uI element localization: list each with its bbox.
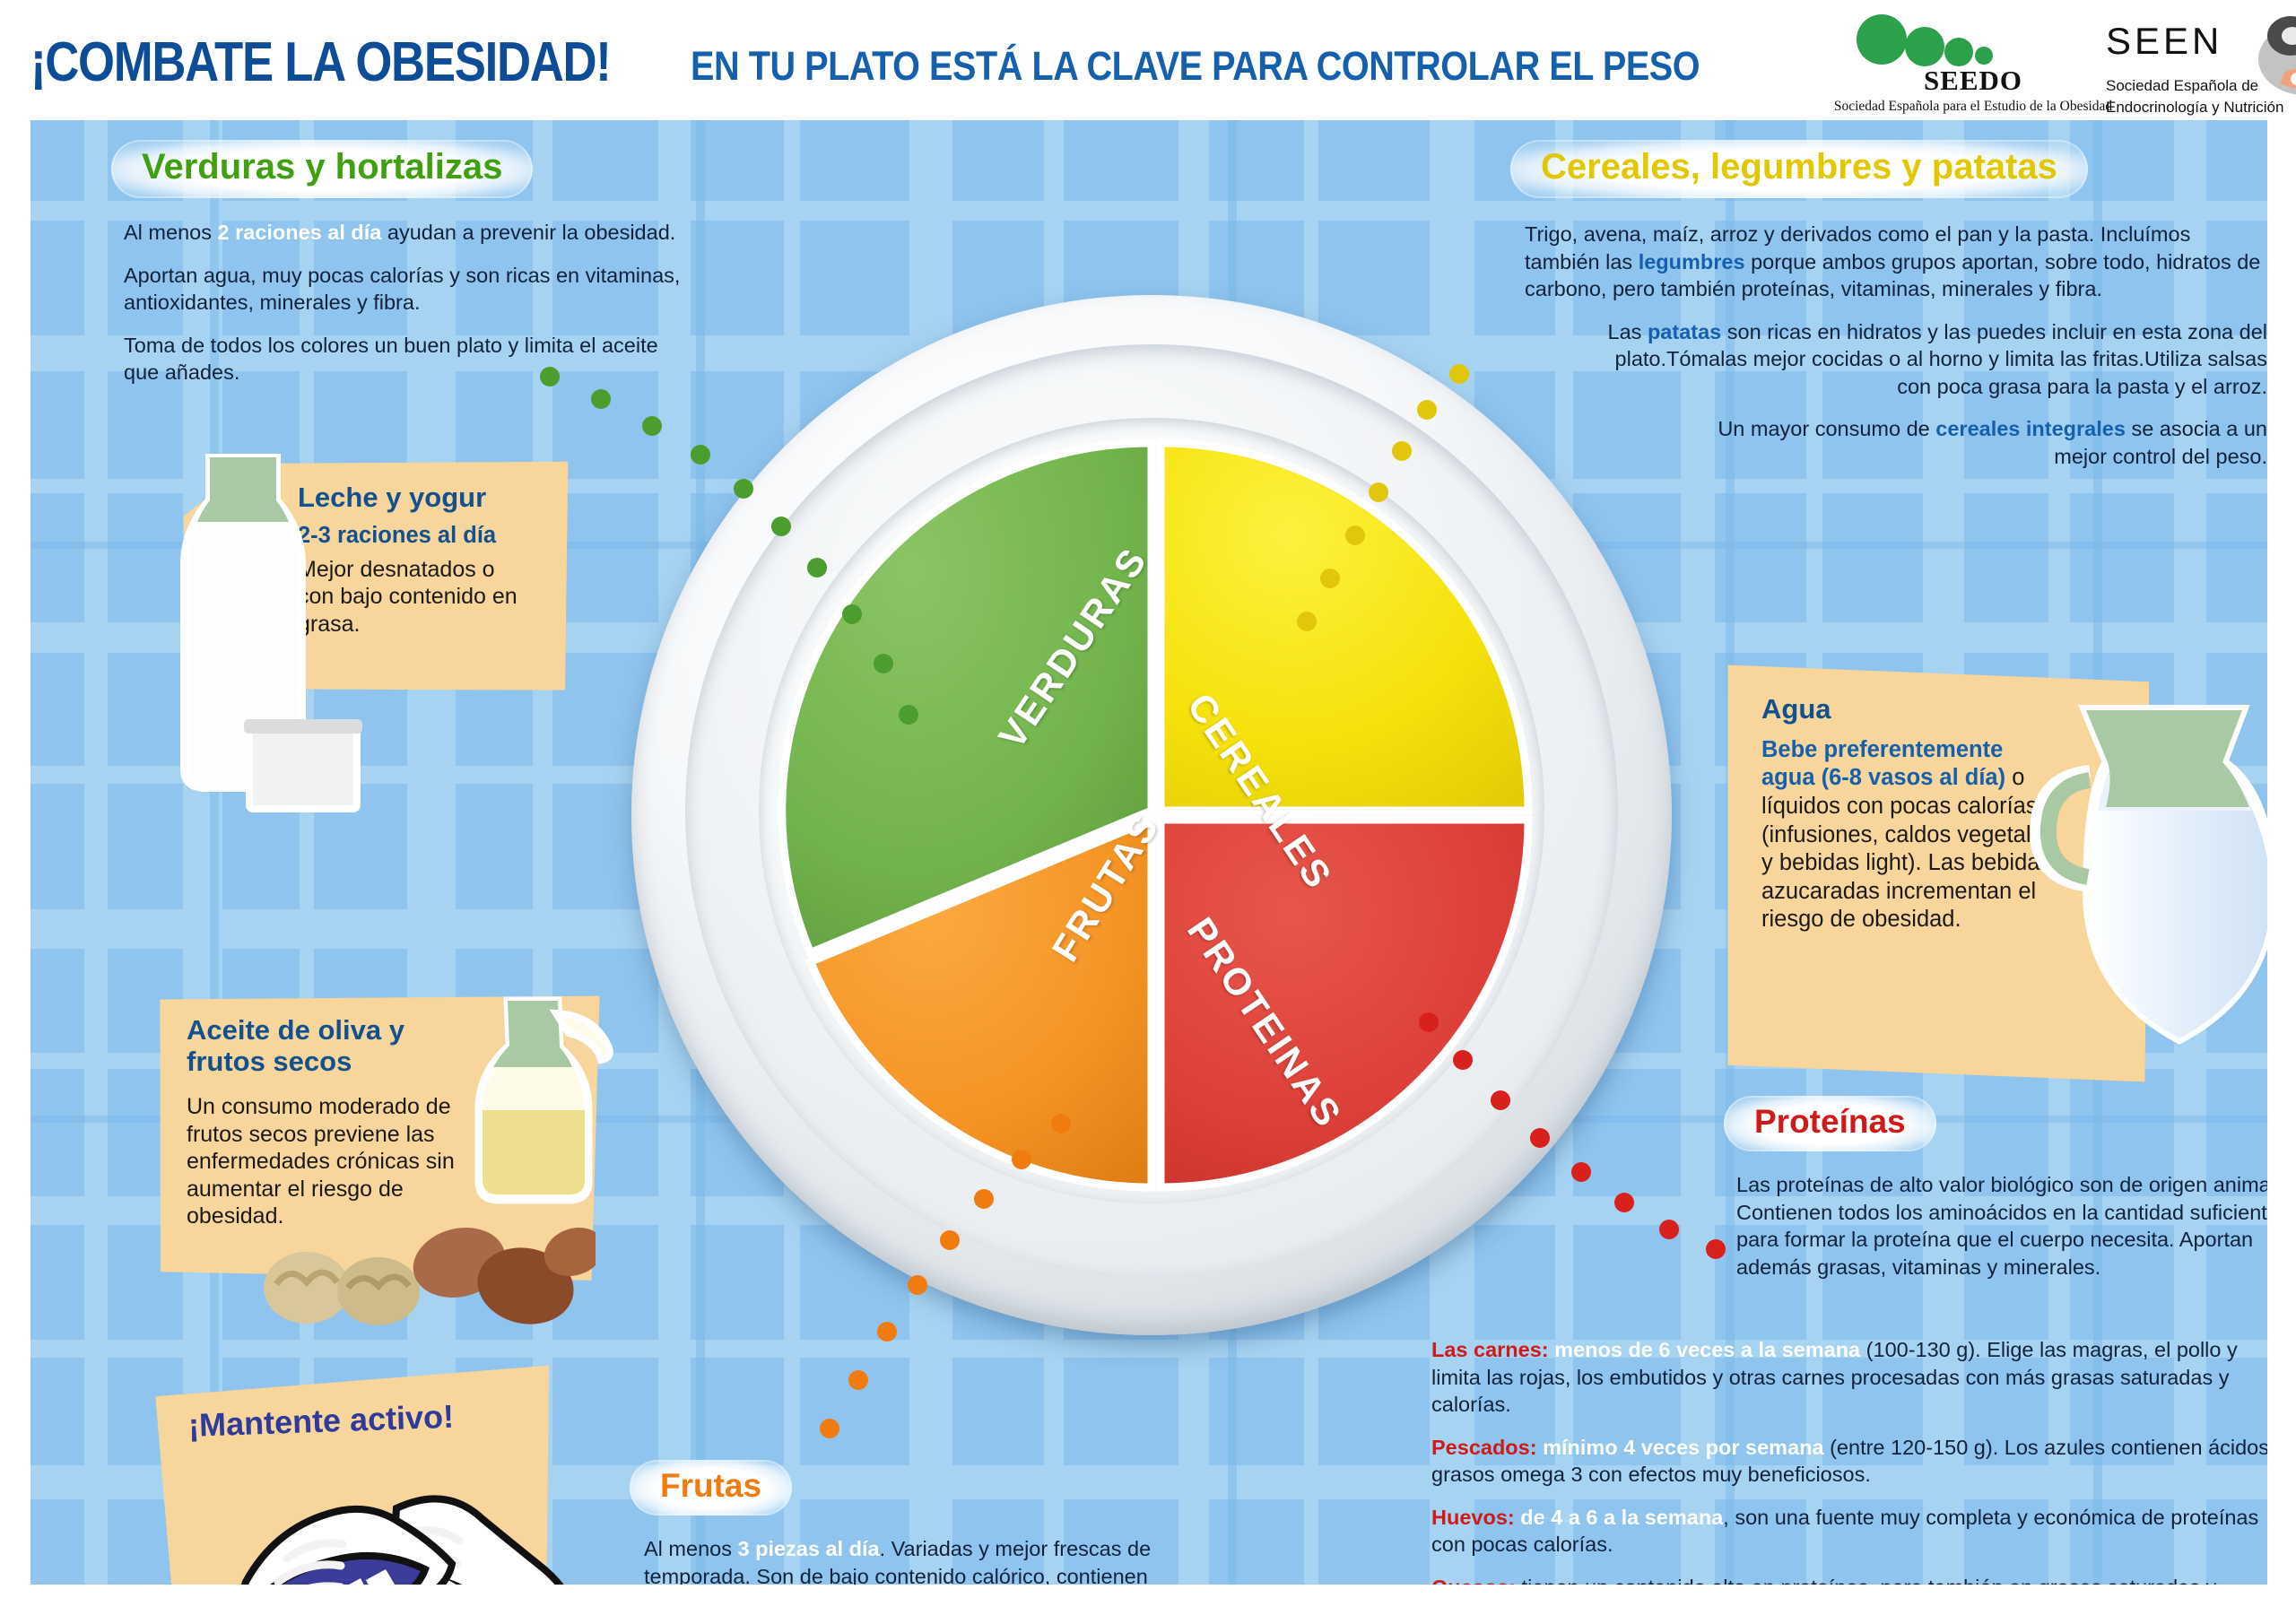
list-item-carnes: Las carnes: menos de 6 veces a la semana…	[1431, 1336, 2267, 1419]
agua-title: Agua	[1761, 694, 2057, 725]
seedo-wordmark: SEEDO	[1864, 65, 2083, 97]
text-verduras: Al menos 2 raciones al día ayudan a prev…	[124, 219, 752, 386]
page-subtitle: EN TU PLATO ESTÁ LA CLAVE PARA CONTROLAR…	[691, 43, 1700, 90]
card-agua-content: Agua Bebe preferentemente agua (6-8 vaso…	[1761, 694, 2057, 934]
text-frutas: Al menos 3 piezas al día. Variadas y mej…	[644, 1535, 1182, 1585]
water-jug-icon	[2031, 694, 2267, 1089]
sneakers-icon	[221, 1446, 597, 1585]
aceite-title-l2: frutos secos	[187, 1046, 483, 1078]
nuts-icon	[246, 1198, 596, 1333]
heading-frutas: Frutas	[630, 1460, 792, 1515]
poster-canvas: VERDURAS CEREALES PROTEINAS FRUTAS	[30, 120, 2267, 1585]
seen-wordmark: SEEN	[2106, 20, 2222, 63]
wedge-proteinas	[1161, 820, 1528, 1187]
plate-wedges	[759, 418, 1544, 1203]
text-proteinas-intro: Las proteínas de alto valor biológico so…	[1736, 1171, 2267, 1281]
seedo-dots-icon	[1857, 14, 2090, 64]
aceite-title-l1: Aceite de oliva y	[187, 1015, 483, 1046]
agua-bold: Bebe preferentemente agua (6-8 vasos al …	[1761, 737, 2005, 791]
page-title: ¡COMBATE LA OBESIDAD!	[30, 30, 611, 94]
list-item-pescados: Pescados: mínimo 4 veces por semana (ent…	[1431, 1434, 2267, 1489]
page-header: ¡COMBATE LA OBESIDAD! EN TU PLATO ESTÁ L…	[0, 0, 2296, 120]
text-cereales: Trigo, avena, maíz, arroz y derivados co…	[1525, 221, 2267, 470]
list-item-quesos: Quesos: tienen un contenido alto en prot…	[1431, 1574, 2267, 1585]
list-item-huevos: Huevos: de 4 a 6 a la semana, son una fu…	[1431, 1504, 2267, 1559]
milk-bottle-icon	[140, 454, 364, 812]
seen-swirl-icon	[2249, 13, 2296, 102]
list-proteinas: Las carnes: menos de 6 veces a la semana…	[1431, 1336, 2267, 1585]
olive-oil-cruet-icon	[443, 995, 613, 1211]
heading-proteinas: Proteínas	[1724, 1096, 1936, 1151]
heading-cereales: Cereales, legumbres y patatas	[1510, 140, 2088, 198]
heading-verduras: Verduras y hortalizas	[111, 140, 533, 198]
seen-tagline-line1: Sociedad Española de	[2106, 77, 2258, 95]
